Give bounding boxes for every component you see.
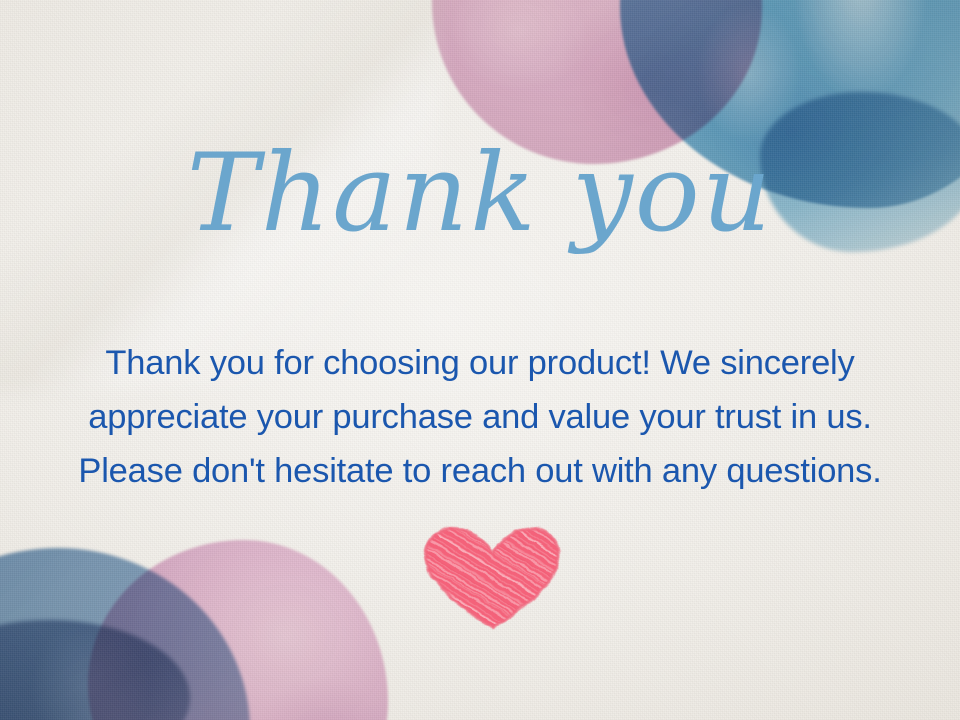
card-content: Thankyou Thank you for choosing our prod…: [0, 0, 960, 720]
thank-you-card: Thankyou Thank you for choosing our prod…: [0, 0, 960, 720]
message-line-1: Thank you for choosing our product! We s…: [16, 336, 944, 390]
message-line-3: Please don't hesitate to reach out with …: [16, 444, 944, 498]
script-heading: Thankyou: [0, 140, 960, 248]
message-line-2: appreciate your purchase and value your …: [16, 390, 944, 444]
script-heading-word-thank: Thank: [187, 140, 538, 248]
heart-icon: [420, 524, 565, 632]
message-paragraph: Thank you for choosing our product! We s…: [16, 336, 944, 498]
script-heading-word-you: you: [572, 140, 774, 248]
